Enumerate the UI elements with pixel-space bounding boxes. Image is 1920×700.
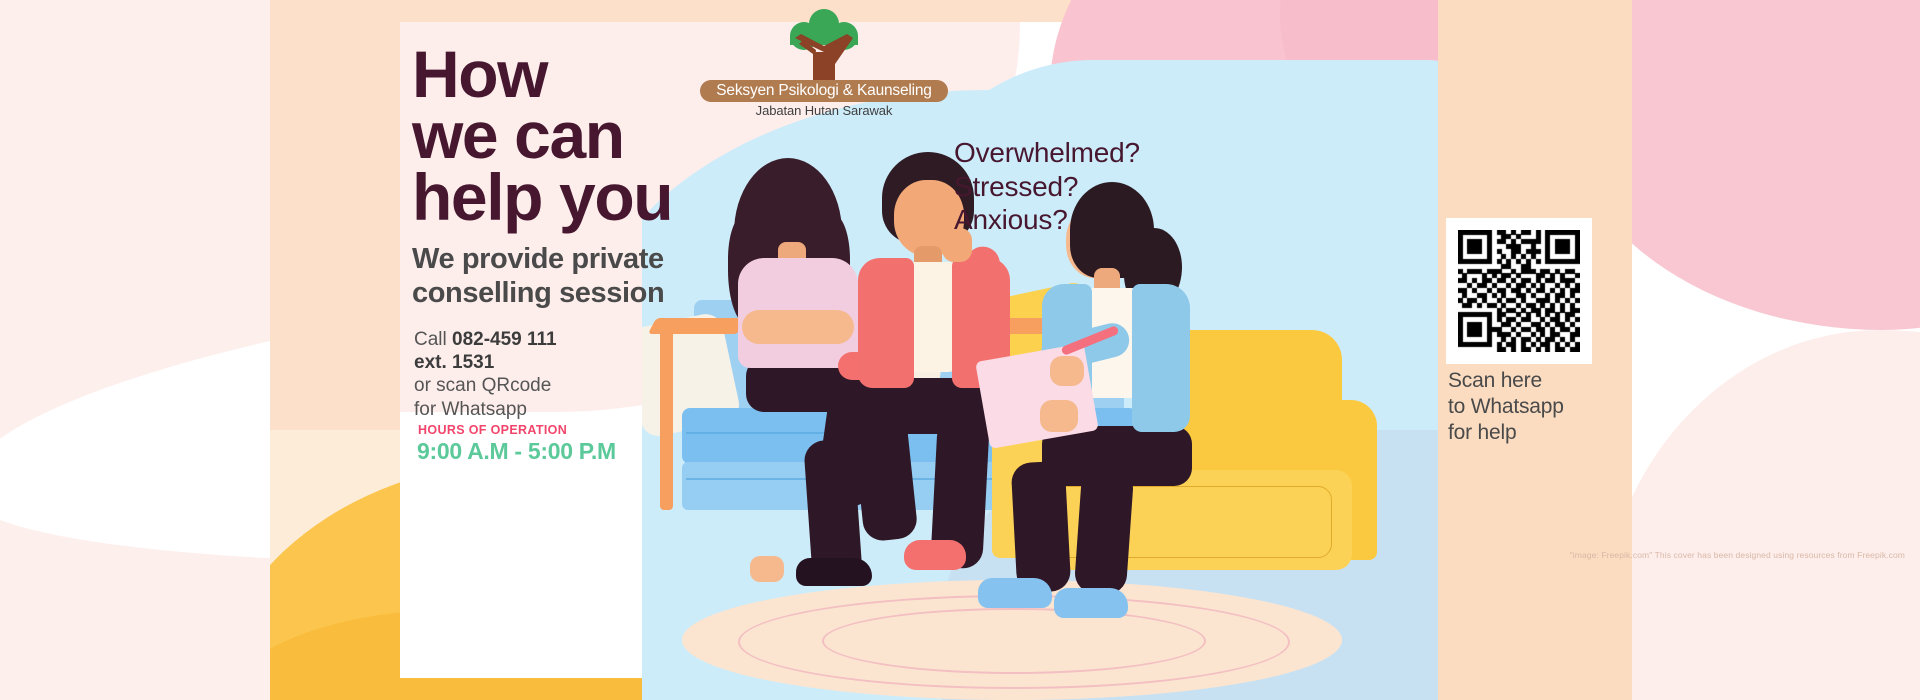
person-right-cardigan-right — [1132, 284, 1190, 432]
scan-note-line-2: for Whatsapp — [414, 398, 714, 421]
person-center-cardigan-left — [858, 258, 914, 388]
hours-value: 9:00 A.M - 5:00 P.M — [417, 438, 616, 465]
person-right-hand-lower — [1040, 400, 1078, 432]
phone-number[interactable]: 082-459 111 — [452, 329, 557, 350]
person-right-shoe-left — [978, 578, 1052, 608]
scan-instruction: Scan here to Whatsapp for help — [1448, 368, 1628, 445]
person-center-shoe — [904, 540, 966, 570]
tree-icon — [700, 8, 948, 80]
scan-note-line-1: or scan QRcode — [414, 374, 714, 397]
person-right-hand-upper — [1050, 356, 1084, 386]
extension: ext. 1531 — [414, 351, 714, 374]
logo-department: Jabatan Hutan Sarawak — [700, 103, 948, 118]
contact-block: Call 082-459 111 ext. 1531 or scan QRcod… — [414, 328, 714, 421]
call-line: Call 082-459 111 — [414, 328, 714, 351]
person-left-foot — [750, 556, 784, 582]
whatsapp-qr-code[interactable] — [1458, 230, 1580, 352]
page-title: How we can help you — [412, 44, 742, 228]
hours-label: HOURS OF OPERATION — [418, 423, 567, 437]
poster-canvas: How we can help you We provide private c… — [0, 0, 1920, 700]
person-left-shoe — [796, 558, 872, 586]
rug-ring-inner — [822, 608, 1206, 674]
subtitle: We provide private conselling session — [412, 243, 752, 311]
organisation-logo: Seksyen Psikologi & Kaunseling Jabatan H… — [700, 8, 948, 118]
question-text: Overwhelmed? Stressed? Anxious? — [954, 136, 1224, 237]
call-prefix: Call — [414, 329, 452, 350]
person-right-shoe-right — [1054, 588, 1128, 618]
logo-org-name: Seksyen Psikologi & Kaunseling — [700, 80, 948, 102]
credit-text: "image: Freepik.com" This cover has been… — [1245, 550, 1905, 560]
person-left-arms — [742, 310, 854, 344]
